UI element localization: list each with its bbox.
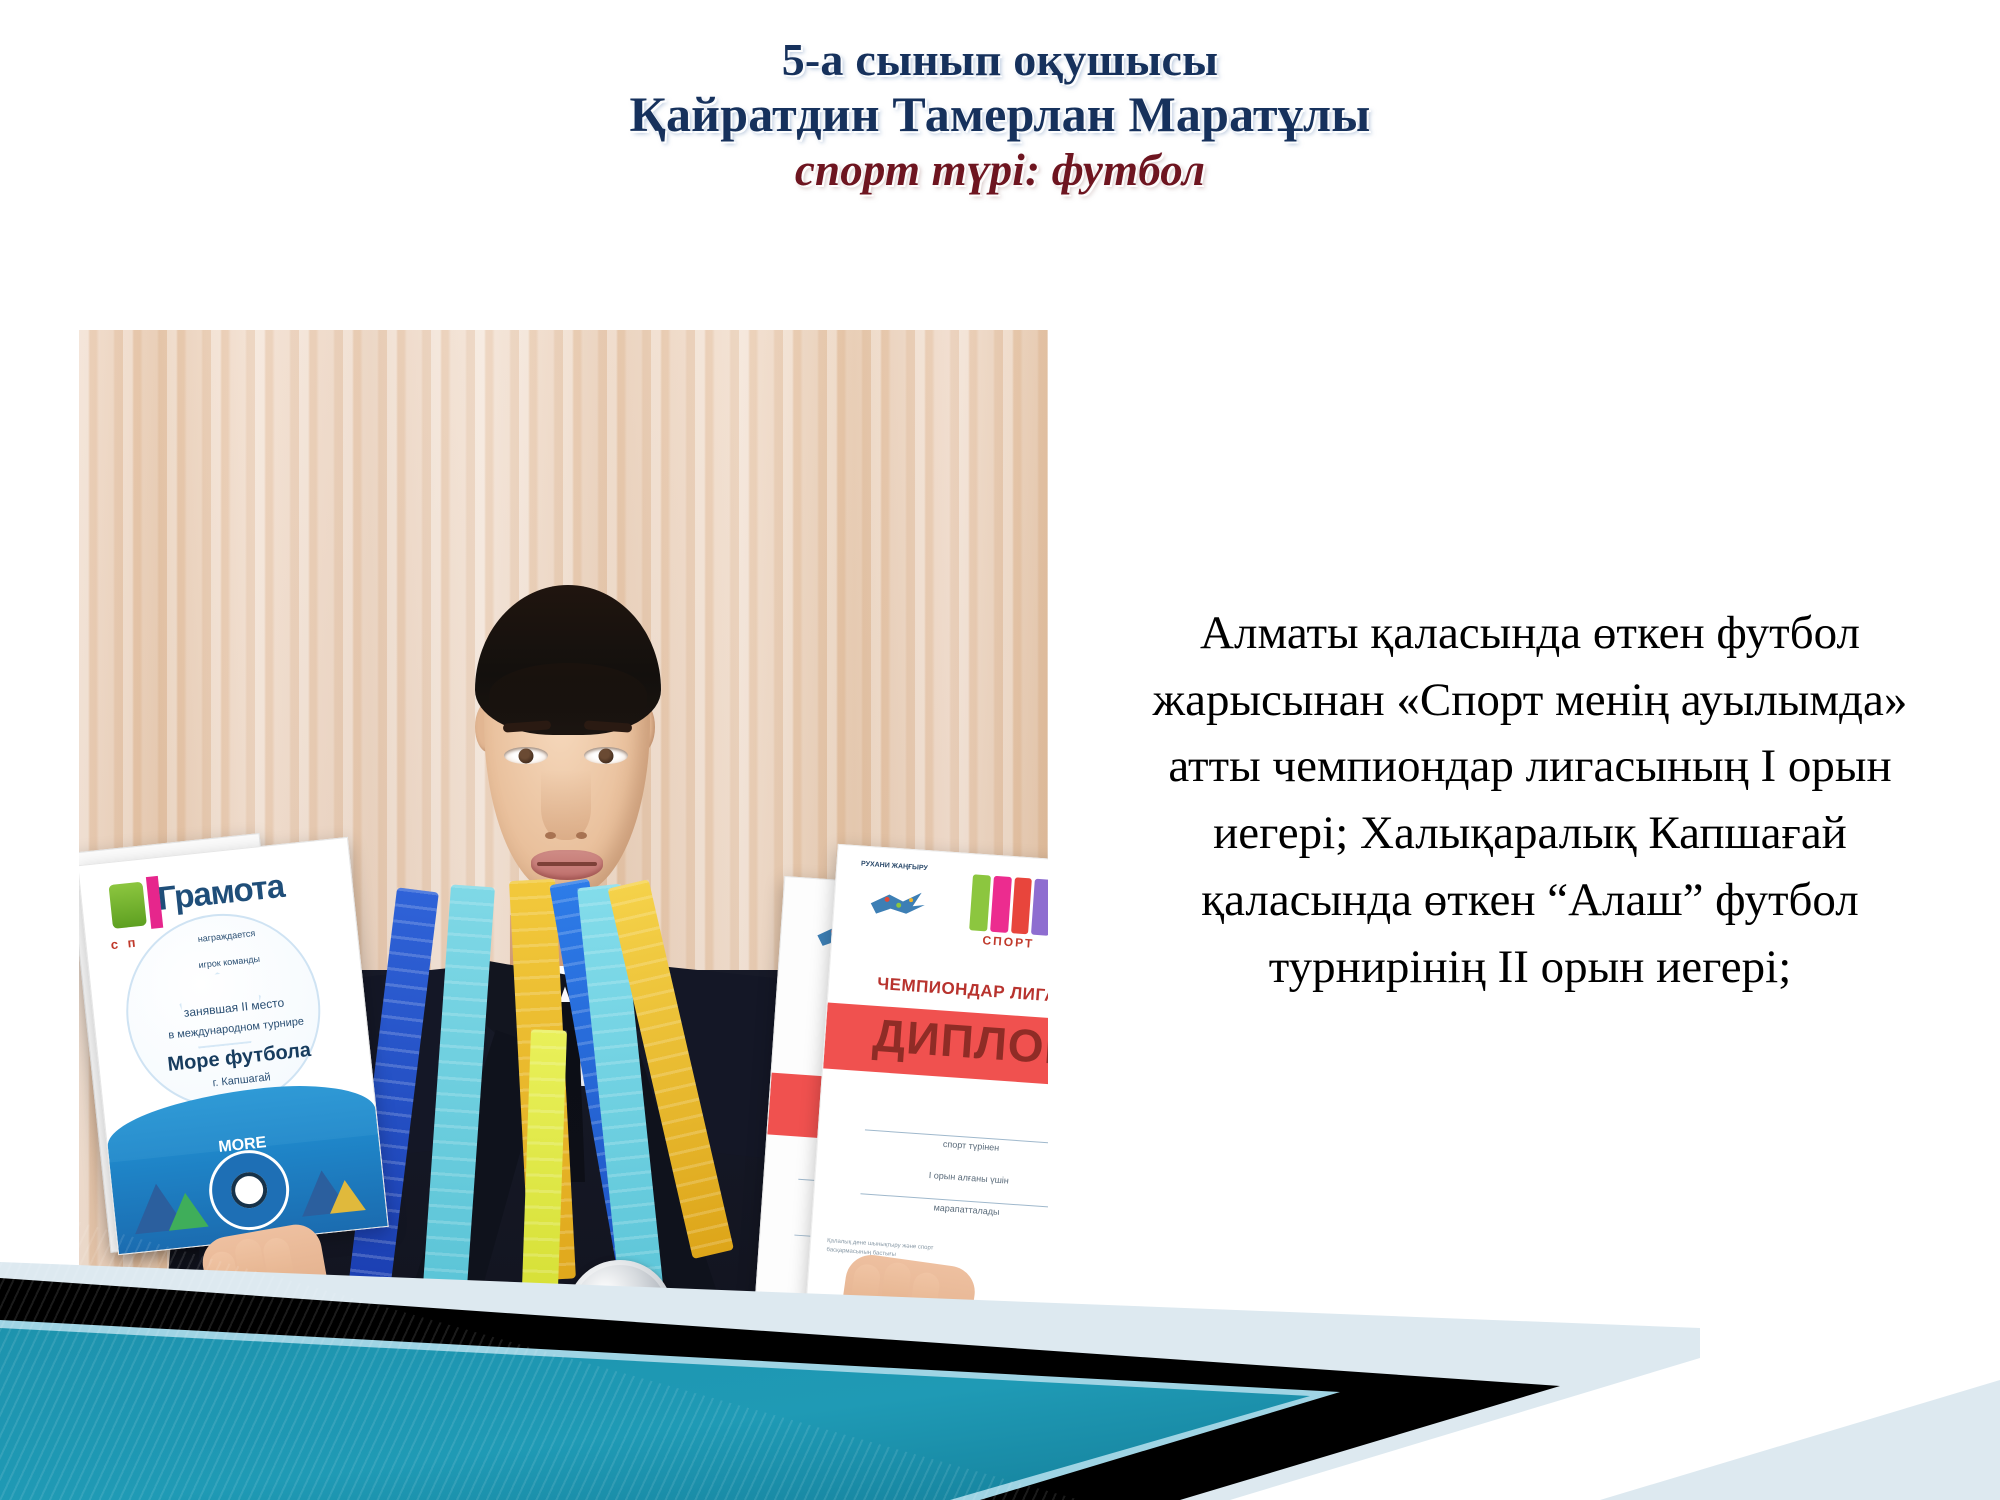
bird-logo — [868, 885, 932, 923]
sport-logo-bar-1 — [969, 874, 991, 931]
hair — [475, 585, 661, 735]
slide: 5-а сынып оқушысы Қайратдин Тамерлан Мар… — [0, 0, 2000, 1500]
mouth — [531, 850, 603, 880]
student-photo: с п Грамота награждается игрок команды з… — [79, 330, 1048, 1408]
eye-left — [504, 747, 548, 764]
sport-logo-bar-4 — [1031, 879, 1048, 936]
sport-logo-text: СПОРТ — [968, 932, 1048, 952]
achievement-description: Алматы қаласында өткен футбол жарысынан … — [1110, 600, 1950, 1000]
diploma-field-2: I орын алғаны үшін — [816, 1162, 1048, 1193]
football-icon — [229, 1170, 269, 1210]
student-figure: с п Грамота награждается игрок команды з… — [79, 330, 1048, 1408]
medal-plaque — [499, 1350, 561, 1408]
sport-logo-bar-3 — [1011, 877, 1033, 934]
pupil-left — [519, 748, 534, 763]
finger — [904, 1271, 941, 1352]
sport-logo — [969, 874, 1048, 935]
slide-title: 5-а сынып оқушысы Қайратдин Тамерлан Мар… — [0, 36, 2000, 194]
sport-logo-bar-2 — [990, 876, 1012, 933]
eye-right — [584, 747, 628, 764]
bird-svg — [868, 885, 932, 923]
medal-gold-clip — [477, 1296, 533, 1340]
title-line-1: 5-а сынып оқушысы — [0, 36, 2000, 84]
title-line-2: Қайратдин Тамерлан Маратұлы — [0, 88, 2000, 141]
finger — [845, 1263, 882, 1344]
hand-left — [199, 1221, 340, 1370]
nostril-right — [576, 832, 587, 839]
bird-logo-text: РУХАНИ ЖАҢҒЫРУ — [859, 860, 929, 873]
gramota-mountain-4 — [327, 1178, 366, 1214]
hand-right — [830, 1252, 978, 1408]
pupil-right — [599, 748, 614, 763]
title-line-3-sport-type: спорт түрі: футбол — [0, 147, 2000, 194]
certificate-gramota: с п Грамота награждается игрок команды з… — [79, 837, 389, 1255]
nose — [541, 770, 591, 840]
nostril-left — [545, 832, 556, 839]
gramota-mountain-2 — [165, 1191, 209, 1231]
